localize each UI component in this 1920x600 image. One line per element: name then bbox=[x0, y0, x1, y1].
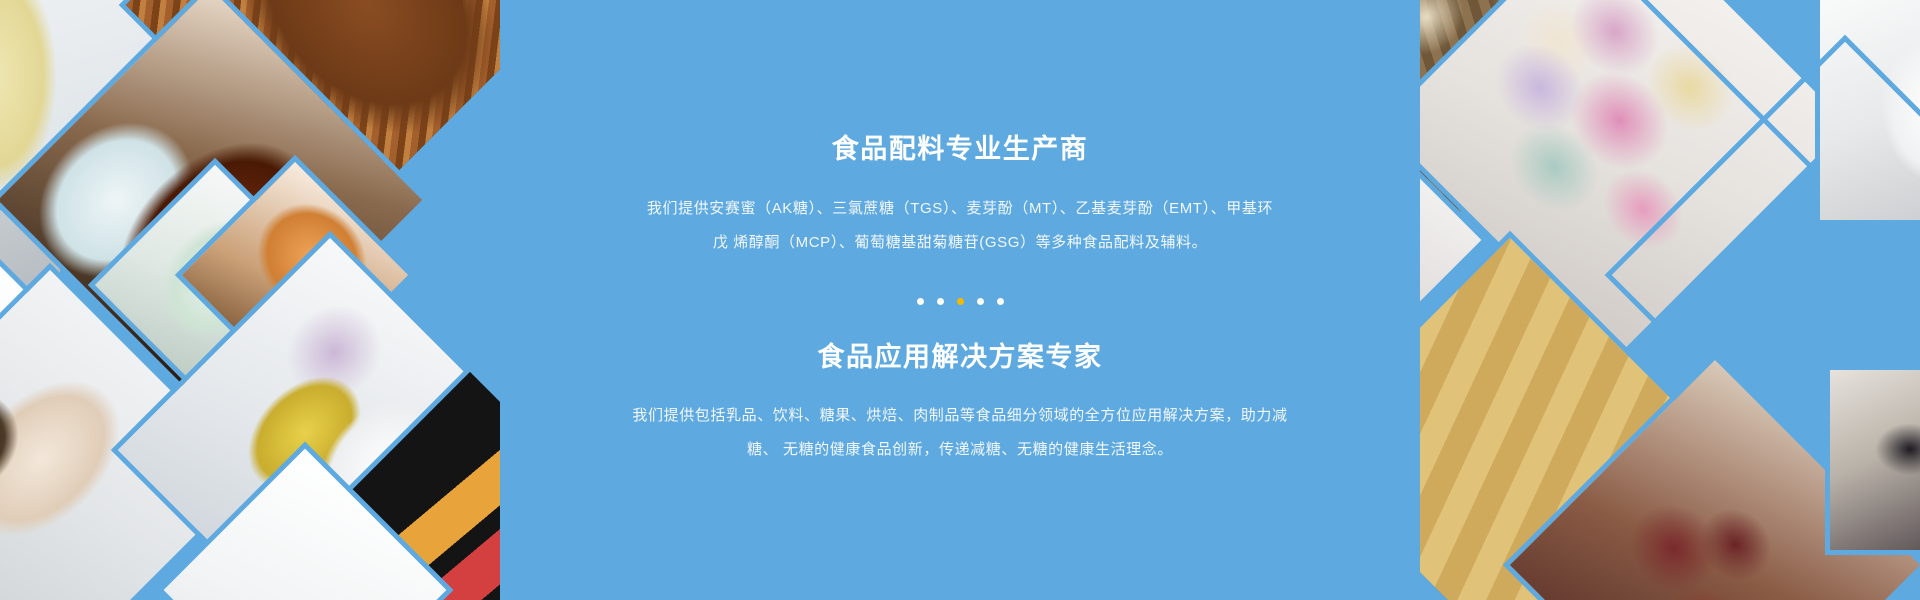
section-paragraph-solutions: 我们提供包括乳品、饮料、糖果、烘焙、肉制品等食品细分领域的全方位应用解决方案，助… bbox=[630, 399, 1290, 467]
photo-collage-right bbox=[1420, 0, 1920, 600]
separator-dot bbox=[937, 298, 944, 305]
section-heading-producer: 食品配料专业生产商 bbox=[510, 133, 1410, 165]
section-producer: 食品配料专业生产商 我们提供安赛蜜（AK糖）、三氯蔗糖（TGS）、麦芽酚（MT）… bbox=[510, 133, 1410, 259]
separator-dot bbox=[917, 298, 924, 305]
paragraph-line: 烯醇酮（MCP）、葡萄糖基甜菊糖苷(GSG）等多种食品配料及辅料。 bbox=[733, 234, 1207, 251]
section-paragraph-producer: 我们提供安赛蜜（AK糖）、三氯蔗糖（TGS）、麦芽酚（MT）、乙基麦芽酚（EMT… bbox=[640, 192, 1280, 260]
photo-collage-left bbox=[0, 0, 500, 600]
section-heading-solutions: 食品应用解决方案专家 bbox=[510, 341, 1410, 373]
separator-dot bbox=[977, 298, 984, 305]
separator-dot-accent bbox=[957, 298, 964, 305]
dot-separator bbox=[917, 298, 1004, 305]
separator-dot bbox=[997, 298, 1004, 305]
banner-content: 食品配料专业生产商 我们提供安赛蜜（AK糖）、三氯蔗糖（TGS）、麦芽酚（MT）… bbox=[510, 0, 1410, 600]
hero-banner: 食品配料专业生产商 我们提供安赛蜜（AK糖）、三氯蔗糖（TGS）、麦芽酚（MT）… bbox=[0, 0, 1920, 600]
paragraph-line: 无糖的健康食品创新，传递减糖、无糖的健康生活理念。 bbox=[783, 441, 1173, 458]
section-solutions: 食品应用解决方案专家 我们提供包括乳品、饮料、糖果、烘焙、肉制品等食品细分领域的… bbox=[510, 341, 1410, 467]
photo-tile-dried-prunes bbox=[1830, 370, 1920, 550]
